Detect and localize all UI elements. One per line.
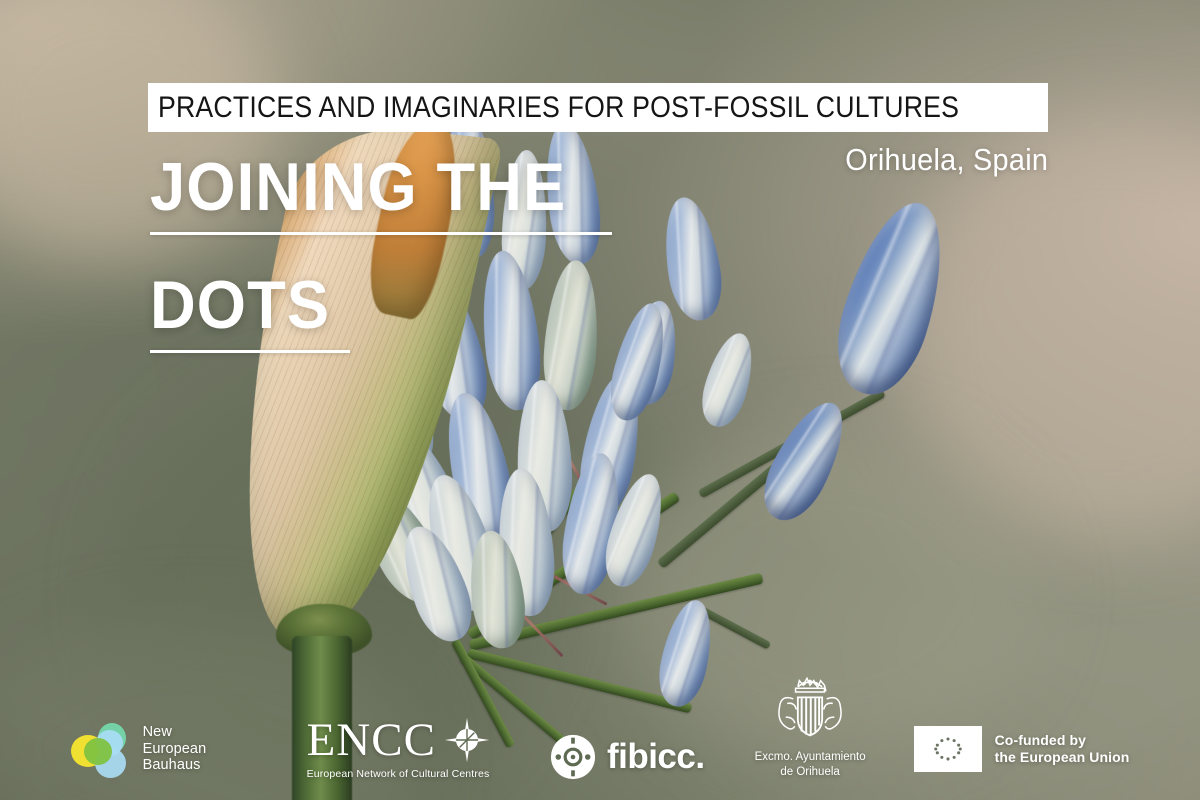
- logo-fibicc[interactable]: fibicc.: [550, 734, 705, 780]
- partner-logo-strip: New European Bauhaus ENCC E: [0, 660, 1200, 780]
- neb-line-1: New: [143, 724, 207, 741]
- eu-line-2: the European Union: [995, 749, 1130, 767]
- fibicc-wordmark: fibicc.: [607, 737, 705, 777]
- compass-rose-icon: [442, 717, 492, 763]
- logo-ayuntamiento-orihuela[interactable]: Excmo. Ayuntamiento de Orihuela: [755, 670, 866, 780]
- crest-line-1: Excmo. Ayuntamiento: [755, 750, 866, 765]
- location-label: Orihuela, Spain: [845, 142, 1048, 178]
- encc-tagline: European Network of Cultural Centres: [307, 768, 490, 780]
- headline-rule-1: [150, 232, 612, 235]
- eu-wordmark: Co-funded by the European Union: [995, 732, 1130, 767]
- headline-line-2-row: DOTS: [150, 273, 790, 353]
- coat-of-arms-icon: [762, 670, 858, 746]
- kicker-bar: PRACTICES AND IMAGINARIES FOR POST-FOSSI…: [148, 83, 1048, 132]
- encc-top-row: ENCC: [307, 717, 492, 763]
- logo-european-union[interactable]: Co-funded by the European Union: [914, 726, 1130, 772]
- eu-line-1: Co-funded by: [995, 732, 1130, 750]
- encc-wordmark: ENCC: [307, 719, 436, 761]
- headline-line-2: DOTS: [150, 273, 745, 338]
- neb-line-2: European: [143, 741, 207, 758]
- neb-line-3: Bauhaus: [143, 757, 207, 774]
- flower-bud: [822, 191, 962, 405]
- neb-blob-mark-icon: [71, 721, 135, 777]
- logo-new-european-bauhaus[interactable]: New European Bauhaus: [71, 718, 251, 780]
- crest-line-2: de Orihuela: [755, 765, 866, 780]
- crest-wordmark: Excmo. Ayuntamiento de Orihuela: [755, 750, 866, 780]
- eu-flag-icon: [914, 726, 982, 772]
- fibicc-circle-icon: [550, 734, 596, 780]
- kicker-text: PRACTICES AND IMAGINARIES FOR POST-FOSSI…: [148, 91, 959, 125]
- logo-encc[interactable]: ENCC European Network of Cultural Centre…: [307, 717, 492, 780]
- headline-block: JOINING THE DOTS: [150, 155, 790, 353]
- neb-wordmark: New European Bauhaus: [143, 724, 207, 774]
- headline-rule-2: [150, 350, 350, 353]
- eu-stars-circle-icon: [925, 733, 971, 765]
- poster-canvas: PRACTICES AND IMAGINARIES FOR POST-FOSSI…: [0, 0, 1200, 800]
- headline-line-1-row: JOINING THE: [150, 155, 790, 235]
- headline-line-1: JOINING THE: [150, 155, 745, 220]
